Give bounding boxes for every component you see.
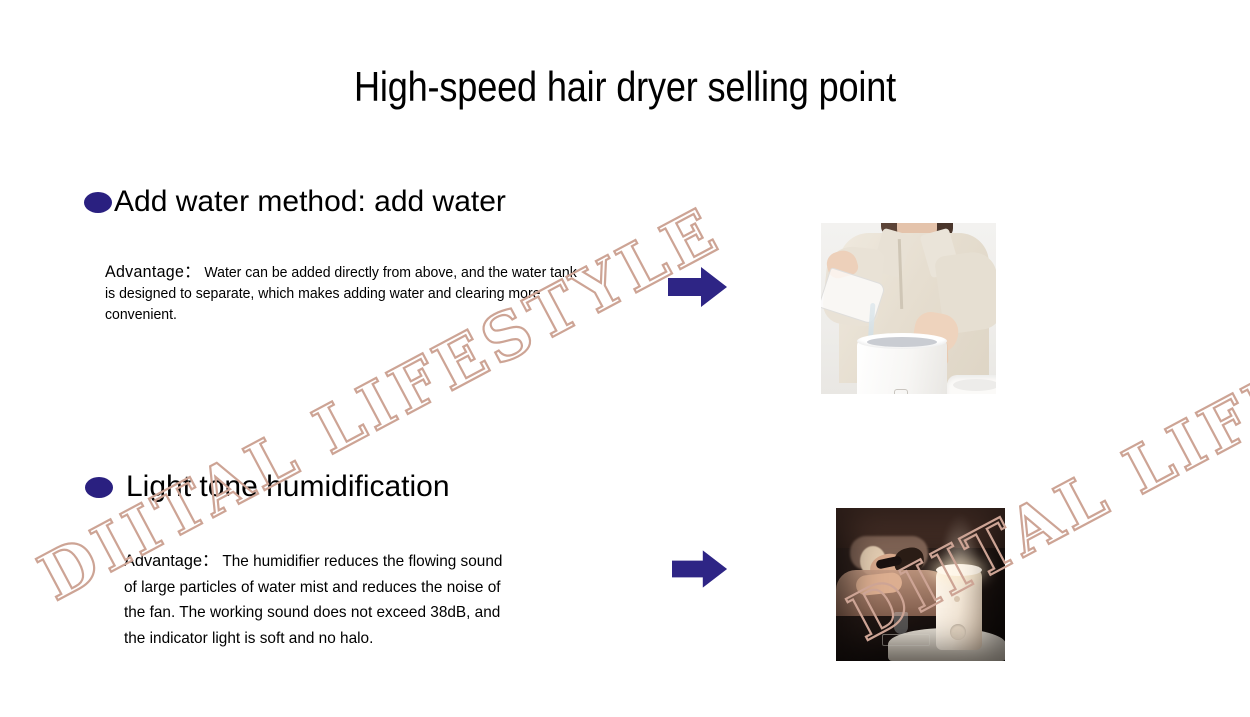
product-photo-night-mode xyxy=(836,508,1005,661)
bullet-heading-add-water: Add water method: add water xyxy=(84,185,506,219)
advantage-label: Advantage： xyxy=(105,263,200,281)
bullet-heading-label: Add water method: add water xyxy=(114,185,506,219)
right-arrow-icon xyxy=(668,267,728,312)
product-photo-add-water xyxy=(821,223,996,394)
advantage-label: Advantage： xyxy=(124,551,218,570)
right-arrow-icon xyxy=(672,550,728,593)
bullet-ellipse-icon xyxy=(84,192,112,213)
bullet-heading-light-tone: Light tone humidification xyxy=(85,470,450,504)
advantage-block-2: Advantage： The humidifier reduces the fl… xyxy=(124,548,508,651)
slide-canvas: High-speed hair dryer selling point Add … xyxy=(0,0,1250,717)
bullet-ellipse-icon xyxy=(85,477,113,498)
advantage-block-1: Advantage： Water can be added directly f… xyxy=(105,262,590,326)
page-title: High-speed hair dryer selling point xyxy=(88,62,1163,112)
bullet-heading-label: Light tone humidification xyxy=(126,470,450,504)
